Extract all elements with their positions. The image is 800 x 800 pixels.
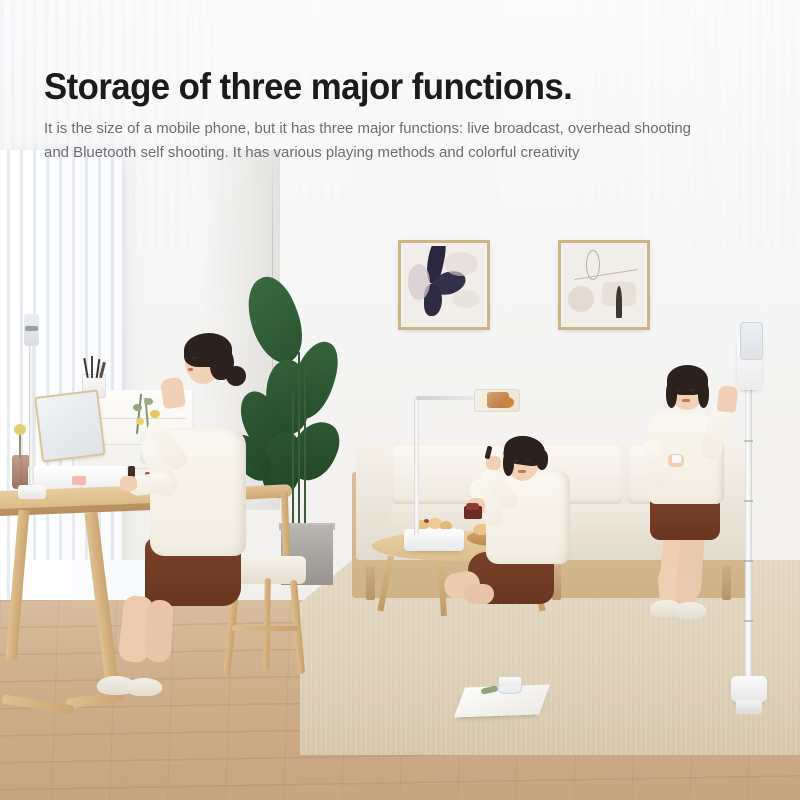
desk-stick-pole <box>29 340 34 492</box>
mounted-phone-overhead <box>474 389 520 412</box>
tripod-pole <box>745 385 752 690</box>
sofa-leg <box>366 566 375 600</box>
sofa-armrest-left <box>356 448 390 540</box>
sofa-leg <box>722 566 731 600</box>
bluetooth-remote <box>672 455 681 463</box>
promo-banner: Storage of three major functions. It is … <box>0 0 800 800</box>
art-canvas-left <box>404 246 484 324</box>
tripod-base <box>731 676 767 702</box>
overhead-pole <box>414 396 419 536</box>
tripod-foot <box>736 700 762 714</box>
vanity-mirror <box>34 389 106 462</box>
art-canvas-right <box>564 246 644 324</box>
yellow-flower <box>150 410 160 418</box>
cosmetic-case <box>72 476 86 485</box>
waving-hand <box>160 377 186 410</box>
desk-stick-base <box>18 485 46 499</box>
waving-hand <box>717 385 739 413</box>
framed-art-left <box>398 240 490 330</box>
framed-art-right <box>558 240 650 330</box>
overhead-base <box>404 529 464 551</box>
dried-flower <box>14 424 26 435</box>
mounted-phone-right <box>740 322 763 360</box>
hair-bun <box>226 366 246 386</box>
slipper <box>126 678 162 696</box>
yellow-flower <box>136 418 144 425</box>
header-text-block: Storage of three major functions. It is … <box>44 66 744 164</box>
glass-cup <box>498 676 522 694</box>
page-title: Storage of three major functions. <box>44 66 702 107</box>
page-subcopy: It is the size of a mobile phone, but it… <box>44 117 718 163</box>
slipper <box>674 602 706 619</box>
chair-stretcher <box>232 626 298 631</box>
